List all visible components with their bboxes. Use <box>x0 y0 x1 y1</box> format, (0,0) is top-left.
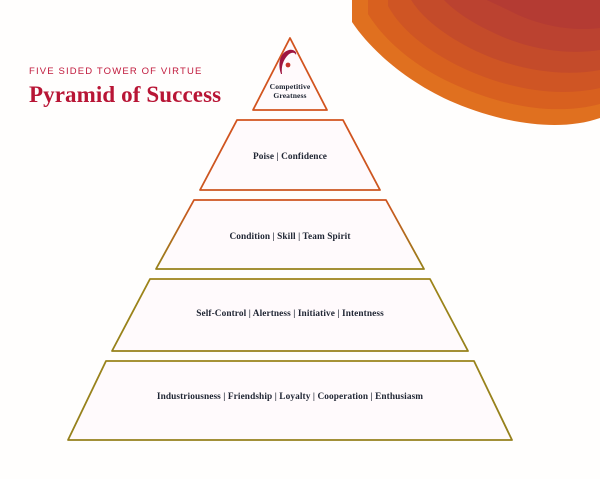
pyramid-tier-2-label: Poise | Confidence <box>253 152 327 162</box>
pyramid-tier-4-label: Self-Control | Alertness | Initiative | … <box>196 309 384 319</box>
pyramid-tier-3-label: Condition | Skill | Team Spirit <box>229 232 350 242</box>
pyramid-tier-5-label: Industriousness | Friendship | Loyalty |… <box>157 392 423 402</box>
infographic-canvas: FIVE SIDED TOWER OF VIRTUE Pyramid of Su… <box>0 0 600 479</box>
pyramid-tier-1-label: Competitive Greatness <box>259 83 321 101</box>
